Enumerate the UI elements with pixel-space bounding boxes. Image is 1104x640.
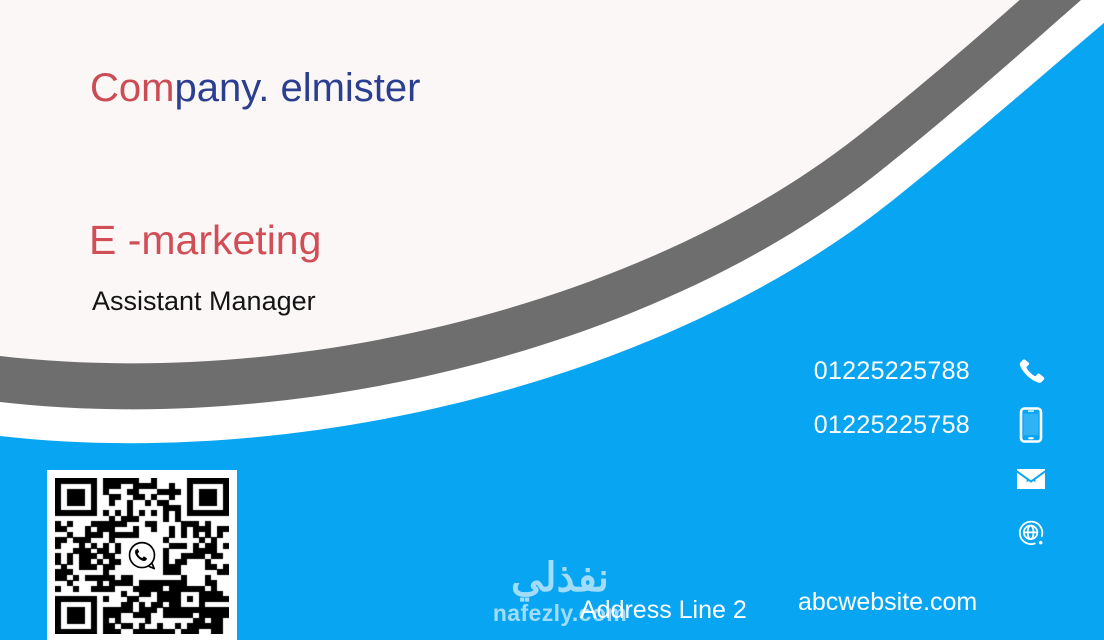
job-role-label: Assistant Manager xyxy=(92,286,316,317)
contact-row-website[interactable] xyxy=(814,506,1046,560)
company-name-accent: Com xyxy=(90,66,174,110)
contact-row-email[interactable] xyxy=(814,452,1046,506)
envelope-icon xyxy=(1016,462,1046,496)
contact-row-mobile[interactable]: 01225225758 xyxy=(814,398,1046,452)
whatsapp-icon xyxy=(120,534,164,578)
service-headline: E -marketing xyxy=(89,217,321,264)
address-line: Address Line 2 xyxy=(580,596,747,625)
page-title: Company. elmister xyxy=(90,66,420,111)
website-url[interactable]: abcwebsite.com xyxy=(798,588,977,617)
contact-list: 01225225788 01225225758 xyxy=(814,344,1046,560)
business-card: Company. elmister E -marketing Assistant… xyxy=(0,0,1104,640)
mobile-phone-icon xyxy=(1016,408,1046,442)
globe-icon xyxy=(1016,516,1046,550)
company-name-main: pany. elmister xyxy=(174,66,420,110)
phone-number-primary: 01225225788 xyxy=(814,357,970,386)
qr-code[interactable] xyxy=(47,470,237,640)
contact-row-phone[interactable]: 01225225788 xyxy=(814,344,1046,398)
phone-number-mobile: 01225225758 xyxy=(814,411,970,440)
phone-handset-icon xyxy=(1016,354,1046,388)
